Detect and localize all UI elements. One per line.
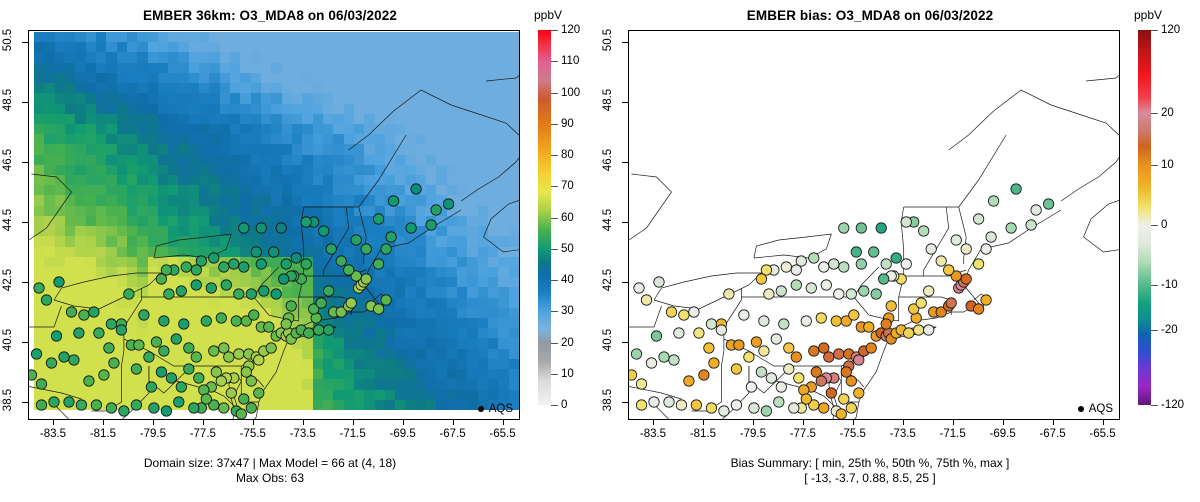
colorbar-tick [1151, 225, 1158, 226]
model-panel: EMBER 36km: O3_MDA8 on 06/03/2022 AQS -8… [0, 0, 600, 502]
aqs-station-marker [649, 397, 659, 407]
aqs-station-marker [846, 376, 856, 386]
aqs-station-marker [771, 334, 781, 344]
aqs-station-marker [986, 232, 996, 242]
aqs-station-marker [779, 319, 789, 329]
colorbar-tick-label: 90 [561, 118, 574, 130]
aqs-station-marker [301, 217, 311, 227]
aqs-station-marker [104, 343, 114, 353]
colorbar-tick [551, 155, 558, 156]
colorbar-tick-label: 10 [561, 368, 574, 380]
aqs-station-marker [216, 313, 226, 323]
aqs-station-marker [856, 259, 866, 269]
aqs-station-marker [756, 274, 766, 284]
aqs-station-marker [631, 349, 641, 359]
colorbar-tick [551, 93, 558, 94]
aqs-station-marker [751, 337, 761, 347]
colorbar-tick-label: 60 [561, 212, 574, 224]
aqs-station-marker [209, 346, 219, 356]
aqs-station-marker [373, 259, 383, 269]
aqs-station-marker [286, 301, 296, 311]
aqs-station-marker [1006, 223, 1016, 233]
x-axis-tick [253, 419, 254, 425]
aqs-station-marker [759, 316, 769, 326]
aqs-station-marker [159, 346, 169, 356]
y-axis-tick-label: 44.5 [2, 190, 14, 250]
aqs-station-marker [846, 403, 856, 413]
aqs-station-marker [106, 403, 116, 413]
aqs-station-marker [109, 358, 119, 368]
aqs-station-marker [134, 340, 144, 350]
aqs-station-marker [761, 406, 771, 416]
aqs-station-marker [749, 403, 759, 413]
aqs-station-marker [84, 376, 94, 386]
colorbar-tick [551, 405, 558, 406]
aqs-station-marker [324, 286, 334, 296]
aqs-legend: AQS [478, 403, 513, 415]
y-axis-tick [22, 102, 28, 103]
aqs-station-marker [981, 295, 991, 305]
aqs-station-marker [886, 301, 896, 311]
y-axis-tick [22, 222, 28, 223]
aqs-station-marker [156, 274, 166, 284]
aqs-station-marker [821, 280, 831, 290]
x-axis-tick [353, 419, 354, 425]
aqs-station-marker [346, 298, 356, 308]
y-axis-tick-label: 40.5 [602, 310, 614, 370]
aqs-station-marker [431, 205, 441, 215]
aqs-station-marker [834, 349, 844, 359]
aqs-station-marker [411, 184, 421, 194]
aqs-station-marker [1043, 199, 1053, 209]
y-axis-tick [22, 282, 28, 283]
aqs-station-marker [279, 274, 289, 284]
aqs-station-marker [924, 325, 934, 335]
map-boundary-line [486, 31, 519, 81]
model-caption-line1: Domain size: 37x47 | Max Model = 66 at (… [0, 456, 540, 471]
aqs-station-marker [124, 289, 134, 299]
aqs-station-marker [239, 262, 249, 272]
aqs-station-marker [859, 286, 869, 296]
aqs-station-marker [791, 265, 801, 275]
y-axis-tick-label: 46.5 [2, 130, 14, 190]
aqs-station-marker [89, 307, 99, 317]
aqs-station-marker [794, 373, 804, 383]
aqs-station-marker [879, 274, 889, 284]
aqs-station-marker [239, 223, 249, 233]
y-axis-tick-label: 48.5 [2, 70, 14, 130]
y-axis-tick [622, 42, 628, 43]
aqs-station-marker [764, 289, 774, 299]
aqs-station-marker [634, 283, 644, 293]
aqs-station-marker [694, 328, 704, 338]
aqs-station-marker [256, 259, 266, 269]
aqs-station-marker [246, 403, 256, 413]
map-boundary-line [484, 147, 520, 252]
aqs-station-marker [706, 403, 716, 413]
aqs-station-marker [351, 235, 361, 245]
aqs-station-marker [759, 346, 769, 356]
aqs-station-marker [854, 388, 864, 398]
aqs-station-marker [254, 388, 264, 398]
aqs-station-marker [746, 382, 756, 392]
aqs-station-marker [791, 352, 801, 362]
colorbar-tick [551, 124, 558, 125]
x-axis-tick [503, 419, 504, 425]
aqs-station-marker [716, 325, 726, 335]
aqs-station-marker [784, 343, 794, 353]
aqs-legend: AQS [1078, 403, 1113, 415]
bias-y-axis: 38.540.542.544.546.548.550.5 [600, 30, 628, 420]
aqs-station-marker [201, 316, 211, 326]
y-axis-tick-label: 42.5 [602, 250, 614, 310]
aqs-station-marker [236, 409, 246, 419]
y-axis-tick-label: 38.5 [2, 370, 14, 430]
aqs-station-marker [1026, 220, 1036, 230]
aqs-station-marker [961, 244, 971, 254]
x-axis-tick [103, 419, 104, 425]
aqs-station-marker [99, 370, 109, 380]
aqs-station-marker [206, 283, 216, 293]
map-boundary-line [711, 366, 749, 419]
aqs-station-marker [914, 325, 924, 335]
aqs-station-marker [709, 358, 719, 368]
y-axis-tick-label: 46.5 [602, 130, 614, 190]
aqs-station-marker [51, 331, 61, 341]
model-colorbar: ppbV 0102030405060708090100110120 [538, 30, 600, 420]
aqs-station-marker [654, 277, 664, 287]
aqs-station-marker [406, 223, 416, 233]
aqs-station-marker [301, 259, 311, 269]
map-boundary-line [29, 306, 62, 327]
aqs-station-marker [256, 223, 266, 233]
aqs-station-marker [361, 244, 371, 254]
aqs-station-marker [866, 343, 876, 353]
aqs-station-marker [66, 307, 76, 317]
aqs-station-marker [801, 316, 811, 326]
map-boundary-line [301, 207, 304, 249]
aqs-station-marker [381, 244, 391, 254]
map-boundary-line [54, 273, 161, 309]
colorbar-tick [1151, 165, 1158, 166]
aqs-station-marker [161, 406, 171, 416]
model-caption: Domain size: 37x47 | Max Model = 66 at (… [0, 456, 540, 486]
aqs-station-marker [824, 352, 834, 362]
x-axis-tick [1003, 419, 1004, 425]
aqs-station-marker [373, 214, 383, 224]
aqs-station-marker [184, 343, 194, 353]
x-axis-tick [203, 419, 204, 425]
aqs-station-marker [224, 352, 234, 362]
aqs-station-marker [106, 319, 116, 329]
colorbar-tick [1151, 330, 1158, 331]
aqs-station-marker [669, 355, 679, 365]
aqs-station-marker [231, 316, 241, 326]
aqs-station-marker [901, 259, 911, 269]
x-axis-tick [153, 419, 154, 425]
aqs-station-marker [666, 307, 676, 317]
aqs-dot-icon [478, 406, 484, 412]
aqs-station-marker [41, 295, 51, 305]
map-boundary-line [349, 90, 519, 201]
x-axis-tick [453, 419, 454, 425]
aqs-station-marker [316, 298, 326, 308]
aqs-station-marker [234, 349, 244, 359]
aqs-station-marker [636, 400, 646, 410]
aqs-station-marker [146, 382, 156, 392]
map-boundary-line [901, 207, 904, 249]
aqs-station-marker [69, 355, 79, 365]
y-axis-tick-label: 42.5 [2, 250, 14, 310]
colorbar-tick [1151, 405, 1158, 406]
map-boundary-line [154, 234, 231, 258]
aqs-station-marker [336, 256, 346, 266]
aqs-station-marker [1011, 184, 1021, 194]
aqs-station-marker [249, 310, 259, 320]
colorbar-tick [551, 374, 558, 375]
aqs-dot-icon [1078, 406, 1084, 412]
colorbar-tick [1151, 30, 1158, 31]
aqs-station-marker [629, 370, 637, 380]
aqs-station-marker [251, 247, 261, 257]
aqs-station-marker [229, 259, 239, 269]
aqs-station-marker [926, 244, 936, 254]
colorbar-tick-label: 0 [1161, 219, 1167, 231]
aqs-station-marker [211, 367, 221, 377]
aqs-station-marker [651, 331, 661, 341]
aqs-station-marker [149, 403, 159, 413]
map-boundary-line [754, 234, 831, 258]
aqs-station-marker [946, 298, 956, 308]
colorbar-tick-label: 30 [561, 305, 574, 317]
x-axis-tick [753, 419, 754, 425]
aqs-station-marker [79, 310, 89, 320]
aqs-station-marker [344, 265, 354, 275]
map-boundary-line [654, 273, 761, 309]
aqs-station-marker [973, 304, 983, 314]
aqs-station-marker [846, 289, 856, 299]
map-boundary-line [949, 90, 1119, 201]
aqs-station-marker [189, 403, 199, 413]
aqs-station-marker [191, 280, 201, 290]
aqs-station-marker [659, 352, 669, 362]
figure-root: EMBER 36km: O3_MDA8 on 06/03/2022 AQS -8… [0, 0, 1200, 502]
bias-caption-line2: [ -13, -3.7, 0.88, 8.5, 25 ] [600, 471, 1140, 486]
colorbar-tick [1151, 113, 1158, 114]
aqs-station-marker [266, 343, 276, 353]
aqs-station-marker [981, 244, 991, 254]
aqs-station-marker [809, 346, 819, 356]
bias-panel: EMBER bias: O3_MDA8 on 06/03/2022 AQS -8… [600, 0, 1200, 502]
aqs-station-marker [259, 286, 269, 296]
colorbar-tick-label: 100 [561, 87, 580, 99]
aqs-station-marker [731, 400, 741, 410]
aqs-station-marker [94, 328, 104, 338]
aqs-station-marker [684, 376, 694, 386]
aqs-station-marker [34, 283, 44, 293]
aqs-station-marker [839, 394, 849, 404]
aqs-legend-label: AQS [1089, 403, 1113, 415]
map-boundary-line [629, 306, 662, 327]
aqs-station-marker [184, 364, 194, 374]
aqs-station-marker [641, 295, 651, 305]
aqs-station-marker [781, 262, 791, 272]
aqs-station-marker [151, 337, 161, 347]
aqs-station-marker [29, 370, 37, 380]
aqs-station-marker [131, 400, 141, 410]
bias-colorbar: ppbV -120-20-1001020120 [1138, 30, 1200, 420]
aqs-station-marker [881, 319, 891, 329]
aqs-station-marker [756, 367, 766, 377]
aqs-station-marker [704, 343, 714, 353]
aqs-station-marker [646, 358, 656, 368]
aqs-station-marker [426, 220, 436, 230]
aqs-station-marker [904, 328, 914, 338]
aqs-station-marker [961, 274, 971, 284]
aqs-station-marker [691, 400, 701, 410]
aqs-station-marker [839, 223, 849, 233]
x-axis-tick [53, 419, 54, 425]
aqs-station-marker [91, 400, 101, 410]
aqs-station-marker [876, 223, 886, 233]
aqs-station-marker [699, 370, 709, 380]
colorbar-tick-label: 80 [561, 149, 574, 161]
map-boundary-line [29, 174, 72, 240]
aqs-station-marker [239, 394, 249, 404]
map-boundary-line [839, 210, 1061, 419]
y-axis-tick-label: 44.5 [602, 190, 614, 250]
bias-caption: Bias Summary: [ min, 25th %, 50th %, 75t… [600, 456, 1140, 486]
colorbar-tick [551, 61, 558, 62]
y-axis-tick-label: 38.5 [602, 370, 614, 430]
aqs-station-marker [731, 364, 741, 374]
aqs-station-marker [46, 358, 56, 368]
aqs-station-marker [443, 199, 453, 209]
aqs-station-marker [144, 352, 154, 362]
aqs-station-marker [734, 340, 744, 350]
x-axis-tick [903, 419, 904, 425]
aqs-station-marker [246, 376, 256, 386]
aqs-station-marker [276, 223, 286, 233]
aqs-station-marker [326, 244, 336, 254]
aqs-station-marker [159, 316, 169, 326]
y-axis-tick [622, 162, 628, 163]
y-axis-tick-label: 40.5 [2, 310, 14, 370]
aqs-station-marker [834, 289, 844, 299]
colorbar-tick [551, 186, 558, 187]
aqs-station-marker [271, 289, 281, 299]
aqs-station-marker [164, 289, 174, 299]
map-boundary-line [239, 210, 461, 419]
aqs-station-marker [176, 286, 186, 296]
aqs-station-marker [676, 400, 686, 410]
aqs-station-marker [191, 265, 201, 275]
aqs-station-marker [919, 226, 929, 236]
bias-colorbar-gradient [1138, 30, 1151, 405]
aqs-station-marker [856, 223, 866, 233]
aqs-station-marker [219, 403, 229, 413]
x-axis-tick [853, 419, 854, 425]
colorbar-tick-label: 70 [561, 180, 574, 192]
bias-plot-area [629, 31, 1119, 419]
aqs-station-marker [849, 310, 859, 320]
y-axis-tick-label: 48.5 [602, 70, 614, 130]
model-colorbar-gradient [538, 30, 551, 405]
aqs-station-marker [269, 247, 279, 257]
aqs-station-marker [831, 316, 841, 326]
aqs-station-marker [811, 367, 821, 377]
aqs-station-marker [281, 319, 291, 329]
aqs-station-marker [881, 259, 891, 269]
aqs-station-marker [219, 262, 229, 272]
page-title: EMBER 36km: O3_MDA8 on 06/03/2022 [0, 8, 540, 23]
aqs-station-marker [784, 364, 794, 374]
aqs-station-marker [719, 406, 729, 416]
aqs-station-marker [774, 397, 784, 407]
aqs-station-marker [179, 319, 189, 329]
aqs-station-marker [891, 253, 901, 263]
aqs-station-marker [304, 328, 314, 338]
aqs-station-marker [826, 388, 836, 398]
aqs-station-marker [739, 310, 749, 320]
aqs-station-marker [836, 409, 846, 419]
map-boundary-line [111, 366, 148, 419]
colorbar-tick-label: -120 [1161, 399, 1184, 411]
aqs-station-marker [636, 379, 646, 389]
colorbar-tick [551, 311, 558, 312]
y-axis-tick [622, 222, 628, 223]
colorbar-tick-label: 110 [561, 55, 579, 67]
colorbar-tick [1151, 285, 1158, 286]
aqs-station-marker [1031, 205, 1041, 215]
aqs-station-marker [973, 259, 983, 269]
aqs-station-marker [744, 352, 754, 362]
model-caption-line2: Max Obs: 63 [0, 471, 540, 486]
aqs-station-marker [388, 196, 398, 206]
y-axis-tick [622, 342, 628, 343]
map-boundary-line [324, 207, 349, 276]
aqs-station-marker [234, 289, 244, 299]
colorbar-tick-label: 0 [561, 399, 567, 411]
colorbar-tick-label: 10 [1161, 159, 1174, 171]
aqs-station-marker [264, 322, 274, 332]
aqs-station-marker [49, 397, 59, 407]
aqs-station-marker [324, 325, 334, 335]
aqs-station-marker [139, 310, 149, 320]
map-boundary-line [359, 207, 367, 264]
colorbar-tick [551, 280, 558, 281]
y-axis-tick-label: 50.5 [2, 10, 14, 70]
aqs-station-marker [916, 298, 926, 308]
y-axis-tick [22, 342, 28, 343]
y-axis-tick [22, 402, 28, 403]
bias-panel-title: EMBER bias: O3_MDA8 on 06/03/2022 [600, 8, 1140, 23]
colorbar-tick-label: -20 [1161, 324, 1178, 336]
bias-caption-line1: Bias Summary: [ min, 25th %, 50th %, 75t… [600, 456, 1140, 471]
map-boundary-line [1084, 147, 1120, 252]
aqs-station-marker [776, 382, 786, 392]
map-boundary-line [959, 207, 967, 264]
aqs-station-marker [869, 247, 879, 257]
aqs-legend-label: AQS [489, 403, 513, 415]
colorbar-tick-label: 40 [561, 274, 574, 286]
colorbar-tick-label: -10 [1161, 279, 1178, 291]
aqs-station-marker [776, 286, 786, 296]
aqs-station-marker [31, 349, 41, 359]
aqs-station-marker [951, 235, 961, 245]
map-boundary-line [629, 174, 672, 240]
aqs-station-marker [226, 388, 236, 398]
